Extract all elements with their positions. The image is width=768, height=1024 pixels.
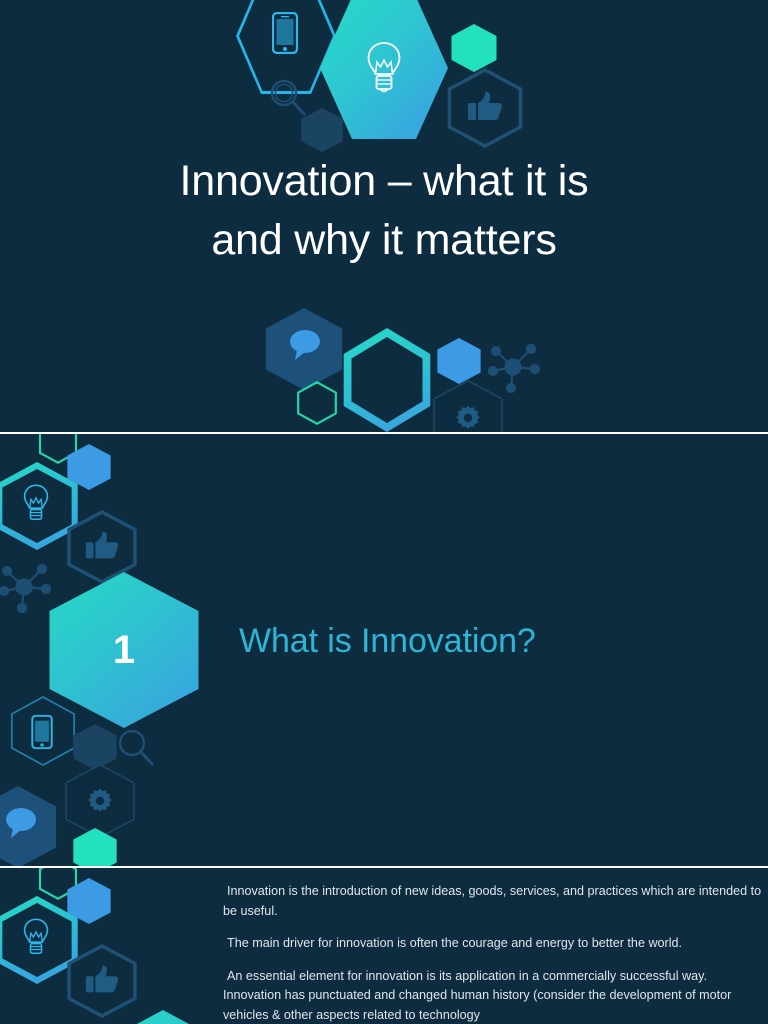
body-paragraph: Innovation is the introduction of new id…	[223, 882, 763, 921]
mobile-phone-icon	[272, 12, 298, 54]
slide-divider-1	[0, 432, 768, 434]
section-number: 1	[38, 572, 210, 728]
body-text: Innovation is the introduction of new id…	[223, 882, 763, 1024]
chat-bubble-icon	[286, 328, 324, 362]
page-title: Innovation – what it is and why it matte…	[0, 152, 768, 271]
lightbulb-icon	[365, 40, 403, 98]
body-paragraph: An essential element for innovation is i…	[223, 967, 763, 1024]
hexagon-outline-gradient-large	[337, 328, 437, 432]
section-heading: What is Innovation?	[239, 622, 536, 661]
title-slide: Innovation – what it is and why it matte…	[0, 0, 768, 433]
slide-divider-2	[0, 866, 768, 868]
network-icon	[485, 338, 541, 396]
gear-icon	[86, 787, 114, 815]
title-line-2: and why it matters	[0, 211, 768, 270]
thumbs-up-icon	[466, 88, 504, 126]
lightbulb-icon	[22, 916, 50, 961]
thumbs-up-icon	[84, 962, 120, 998]
body-paragraph: The main driver for innovation is often …	[223, 934, 763, 954]
search-icon	[266, 76, 310, 120]
hexagon-decor-teal-1	[448, 24, 500, 72]
chat-bubble-icon	[2, 806, 40, 840]
presentation-page: Innovation – what it is and why it matte…	[0, 0, 768, 1024]
hexagon-decor-blue-1	[434, 338, 484, 384]
gear-icon	[454, 404, 482, 432]
hexagon-outline-teal-small	[294, 381, 340, 425]
lightbulb-icon	[22, 482, 50, 527]
thumbs-up-icon	[84, 528, 120, 564]
title-line-1: Innovation – what it is	[0, 152, 768, 211]
